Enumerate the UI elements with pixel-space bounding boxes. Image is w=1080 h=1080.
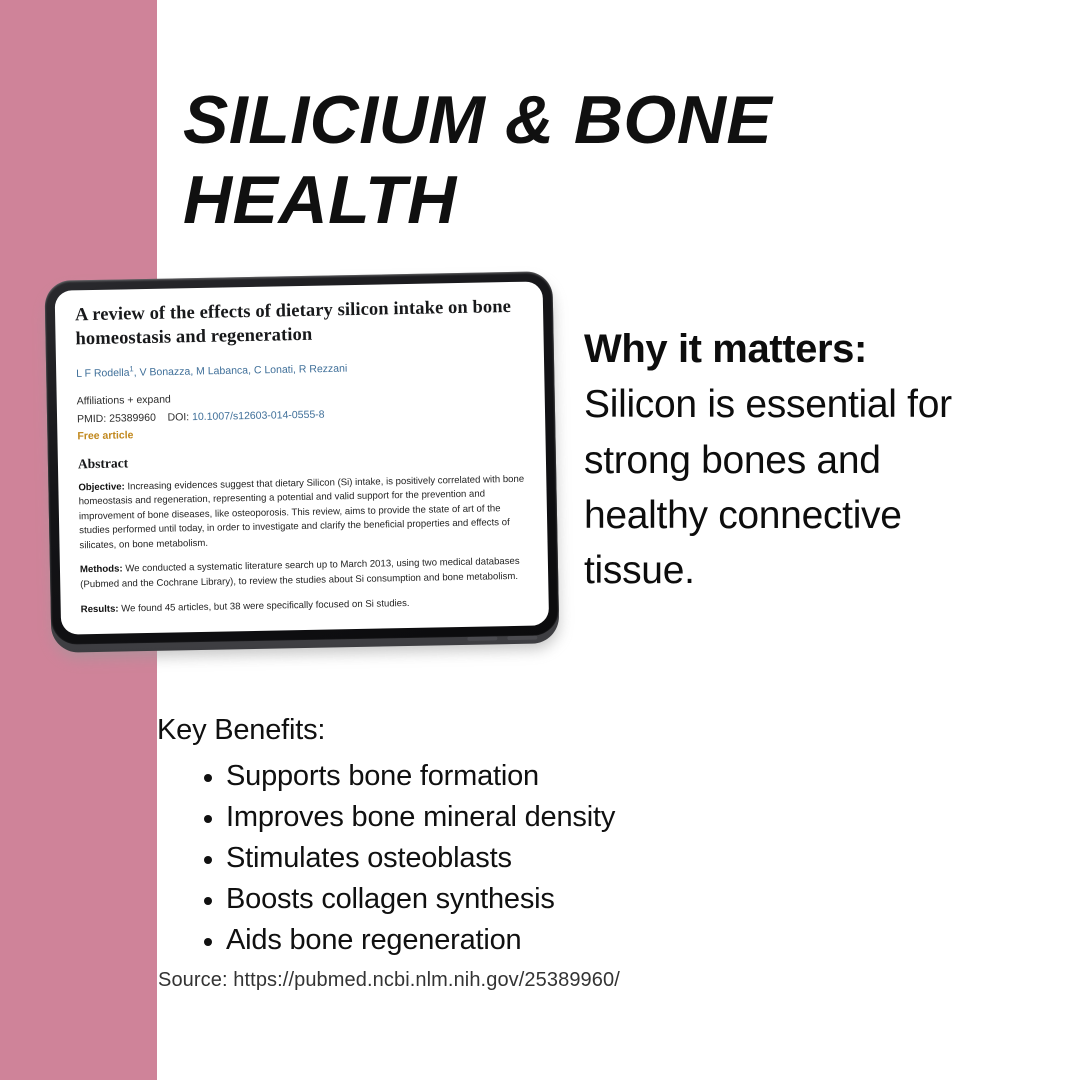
list-item: Supports bone formation xyxy=(202,756,857,797)
abstract-objective: Objective: Increasing evidences suggest … xyxy=(78,472,527,553)
plus-icon[interactable]: + xyxy=(127,394,133,406)
tablet-screen: A review of the effects of dietary silic… xyxy=(55,281,550,634)
tablet-mockup: A review of the effects of dietary silic… xyxy=(42,271,563,659)
methods-text: We conducted a systematic literature sea… xyxy=(80,556,520,590)
key-benefits-list: Supports bone formation Improves bone mi… xyxy=(157,756,857,962)
why-it-matters-block: Why it matters: Silicon is essential for… xyxy=(584,322,1004,599)
tablet-button-2 xyxy=(507,636,537,641)
objective-text: Increasing evidences suggest that dietar… xyxy=(79,473,525,551)
source-line: Source: https://pubmed.ncbi.nlm.nih.gov/… xyxy=(158,969,620,992)
article-authors: L F Rodella1, V Bonazza, M Labanca, C Lo… xyxy=(76,357,524,382)
poster-canvas: SILICIUM & BONE HEALTH A review of the e… xyxy=(0,0,1080,1080)
key-benefits-heading: Key Benefits: xyxy=(157,712,857,750)
article-title: A review of the effects of dietary silic… xyxy=(75,296,524,352)
tablet-button-1 xyxy=(467,636,497,641)
list-item: Boosts collagen synthesis xyxy=(202,879,857,920)
why-it-matters-heading: Why it matters: xyxy=(584,322,1004,377)
list-item: Aids bone regeneration xyxy=(202,920,857,961)
author-link[interactable]: L F Rodella xyxy=(76,367,130,380)
methods-label: Methods: xyxy=(80,564,123,576)
page-title: SILICIUM & BONE HEALTH xyxy=(183,80,883,240)
list-item: Stimulates osteoblasts xyxy=(202,838,857,879)
authors-rest[interactable]: , V Bonazza, M Labanca, C Lonati, R Rezz… xyxy=(134,363,348,379)
key-benefits-block: Key Benefits: Supports bone formation Im… xyxy=(157,712,857,962)
expand-link[interactable]: expand xyxy=(136,393,171,406)
why-it-matters-body: Silicon is essential for strong bones an… xyxy=(584,377,1004,599)
pmid-label: PMID: xyxy=(77,412,106,425)
pmid-value: 25389960 xyxy=(109,411,156,424)
list-item: Improves bone mineral density xyxy=(202,797,857,838)
affiliations-label: Affiliations xyxy=(77,394,125,407)
results-label: Results: xyxy=(81,603,119,615)
objective-label: Objective: xyxy=(78,481,125,493)
doi-link[interactable]: 10.1007/s12603-014-0555-8 xyxy=(192,408,325,423)
abstract-heading: Abstract xyxy=(78,447,526,472)
pubmed-article: A review of the effects of dietary silic… xyxy=(55,281,549,617)
doi-label: DOI: xyxy=(167,411,189,423)
abstract-methods: Methods: We conducted a systematic liter… xyxy=(80,555,528,593)
abstract-results: Results: We found 45 articles, but 38 we… xyxy=(81,594,529,617)
tablet-bezel: A review of the effects of dietary silic… xyxy=(44,271,559,645)
results-text: We found 45 articles, but 38 were specif… xyxy=(118,598,409,615)
